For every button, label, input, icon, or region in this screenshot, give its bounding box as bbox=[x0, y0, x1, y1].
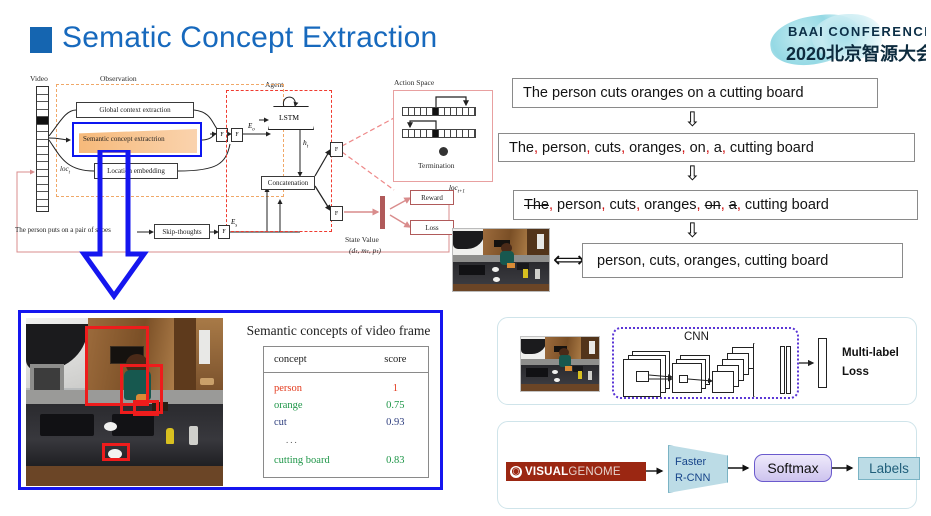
table-row-ellipsis: ... bbox=[264, 431, 428, 448]
detector-to-softmax-arrow-icon bbox=[728, 463, 754, 475]
cnn-multilabel-card: CNN Mul bbox=[497, 317, 917, 405]
table-row: person 1 bbox=[264, 380, 428, 397]
kitchen-video-frame-thumb bbox=[452, 228, 550, 292]
cnn-output-arrow-icon bbox=[799, 358, 817, 368]
reward-box: Reward bbox=[410, 190, 454, 205]
visual-genome-brand-1: VISUAL bbox=[525, 466, 568, 478]
baai-conference-logo: BAAI CONFERENCE 2020北京智源大会 bbox=[770, 14, 926, 66]
column-header-concept: concept bbox=[264, 354, 363, 365]
kitchen-video-frame-thumb bbox=[520, 336, 600, 392]
visual-genome-brand-2: GENOME bbox=[568, 466, 620, 478]
concept-score: 0.93 bbox=[363, 417, 428, 428]
concept-name: ... bbox=[264, 435, 368, 445]
skip-thoughts-box: Skip-thoughts bbox=[154, 224, 210, 239]
page-title: Sematic Concept Extraction bbox=[62, 21, 437, 55]
faster-rcnn-line-1: Faster bbox=[675, 454, 710, 470]
table-row: cut 0.93 bbox=[264, 414, 428, 431]
concept-score: 0.75 bbox=[363, 400, 428, 411]
bottle-yellow bbox=[166, 428, 174, 444]
softmax-node: Softmax bbox=[754, 454, 832, 482]
concept-name: person bbox=[264, 383, 363, 394]
cnn-wiring bbox=[614, 329, 801, 401]
h-t-label: ht bbox=[303, 138, 308, 150]
final-concepts-box: person, cuts, oranges, cutting board bbox=[582, 243, 903, 278]
kitchen-video-frame bbox=[26, 318, 223, 486]
termination-label: Termination bbox=[418, 161, 455, 170]
output-vector bbox=[818, 338, 827, 388]
stopwords-struck-box: The, person, cuts, oranges, on, a, cutti… bbox=[513, 190, 918, 220]
towel bbox=[199, 330, 210, 364]
equivalence-arrow-icon: ⟺ bbox=[553, 249, 585, 271]
logo-conference-word: CONFERENCE bbox=[828, 24, 926, 39]
column-header-score: score bbox=[363, 354, 428, 365]
lstm-node: LSTM bbox=[268, 106, 314, 130]
visual-genome-banner: ◉ VISUAL GENOME bbox=[506, 462, 646, 481]
logo-brand: BAAI bbox=[788, 24, 824, 39]
cabinet-front-bottom bbox=[26, 466, 223, 486]
termination-dot-icon bbox=[439, 147, 448, 156]
concept-score: 1 bbox=[363, 383, 428, 394]
concept-score: 0.83 bbox=[363, 455, 428, 466]
semantic-concepts-table: concept score person 1 orange 0.75 cut 0… bbox=[263, 346, 429, 478]
state-value-bar bbox=[380, 196, 385, 229]
full-sentence-text: The person cuts oranges on a cutting boa… bbox=[523, 85, 804, 101]
visual-genome-card: ◉ VISUAL GENOME Faster R-CNN Softmax Lab… bbox=[497, 421, 917, 509]
sink-dark bbox=[112, 414, 154, 436]
f-node-policy: F bbox=[330, 142, 343, 157]
white-bowl bbox=[104, 422, 117, 431]
softmax-to-labels-arrow-icon bbox=[832, 463, 858, 475]
cutting-board-box bbox=[133, 400, 159, 416]
action-space-region: Termination bbox=[393, 90, 493, 182]
visual-genome-mark-icon: ◉ bbox=[510, 466, 522, 478]
stopwords-struck-text: The, person, cuts, oranges, on, a, cutti… bbox=[524, 197, 829, 213]
full-sentence-box: The person cuts oranges on a cutting boa… bbox=[512, 78, 878, 108]
table-header-row: concept score bbox=[264, 347, 428, 373]
final-concepts-text: person, cuts, oranges, cutting board bbox=[597, 253, 828, 269]
faster-rcnn-label: Faster R-CNN bbox=[675, 454, 710, 486]
title-accent-square bbox=[30, 27, 52, 53]
logo-line-1: BAAI CONFERENCE bbox=[788, 24, 926, 39]
state-value-label: State Value bbox=[345, 235, 379, 244]
concept-name: orange bbox=[264, 400, 363, 411]
table-row: cutting board 0.83 bbox=[264, 452, 428, 469]
semantic-concepts-panel: Semantic concepts of video frame concept… bbox=[18, 310, 443, 490]
stovetop bbox=[40, 414, 94, 436]
pipeline-arrow-3-icon: ⇩ bbox=[684, 221, 700, 243]
multilabel-line-2: Loss bbox=[842, 363, 899, 382]
faster-rcnn-line-2: R-CNN bbox=[675, 470, 710, 486]
pipeline-arrow-2-icon: ⇩ bbox=[684, 164, 700, 186]
header-bar: Sematic Concept Extraction BAAI CONFEREN… bbox=[0, 8, 931, 60]
multilabel-line-1: Multi-label bbox=[842, 344, 899, 363]
faster-rcnn-node: Faster R-CNN bbox=[668, 445, 728, 493]
tokenized-sentence-box: The, person, cuts, oranges, on, a, cutti… bbox=[498, 133, 915, 162]
f-node-value: F bbox=[330, 206, 343, 221]
pipeline-arrow-1-icon: ⇩ bbox=[684, 110, 700, 132]
plate-box bbox=[102, 443, 130, 461]
wood-item bbox=[200, 378, 214, 385]
f-node-sentence: F bbox=[218, 225, 230, 239]
e-s-label: Es bbox=[231, 218, 237, 228]
concept-name: cutting board bbox=[264, 455, 363, 466]
spray-bottle bbox=[189, 426, 198, 445]
tokenized-sentence-text: The, person, cuts, oranges, on, a, cutti… bbox=[509, 140, 814, 156]
appliance-window bbox=[34, 368, 60, 392]
blue-down-arrow-icon bbox=[78, 150, 150, 300]
state-value-vars: (dₜ, mₜ, pₜ) bbox=[349, 246, 381, 255]
loss-box: Loss bbox=[410, 220, 454, 235]
semantic-concepts-heading: Semantic concepts of video frame bbox=[236, 323, 441, 339]
logo-line-2: 2020北京智源大会 bbox=[786, 40, 926, 66]
vg-to-detector-arrow-icon bbox=[646, 466, 668, 478]
concatenation-box: Concatenation bbox=[261, 176, 315, 190]
multilabel-loss-text: Multi-label Loss bbox=[842, 344, 899, 382]
labels-node: Labels bbox=[858, 457, 920, 480]
cnn-region: CNN bbox=[612, 327, 799, 399]
table-row: orange 0.75 bbox=[264, 397, 428, 414]
concept-name: cut bbox=[264, 417, 363, 428]
